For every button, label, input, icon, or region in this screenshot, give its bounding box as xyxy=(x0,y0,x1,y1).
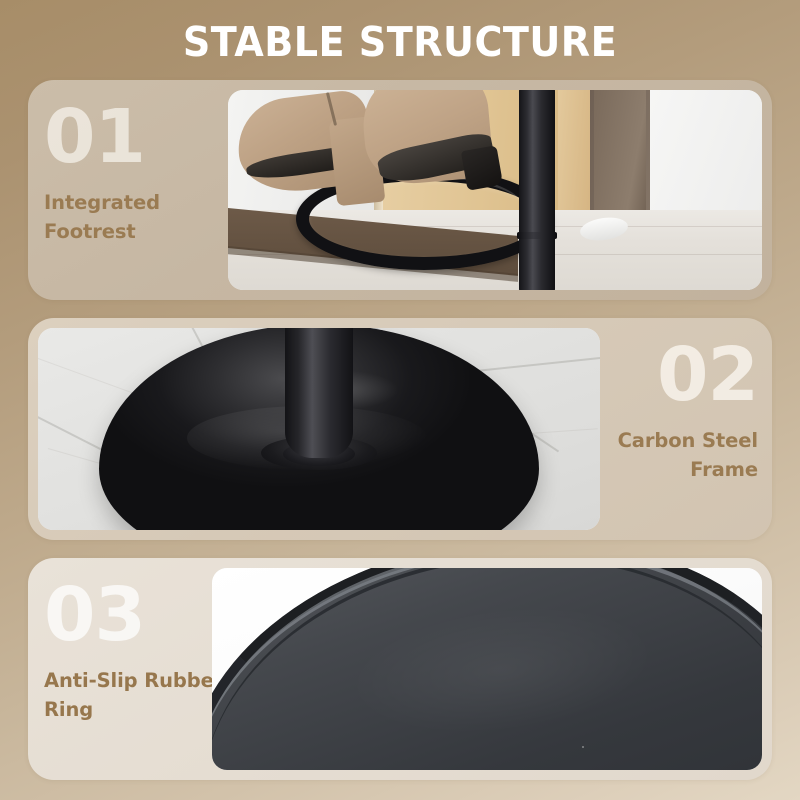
step-number-03: 03 xyxy=(44,576,234,654)
feature-card-01: 01 Integrated Footrest xyxy=(28,80,772,300)
feature-text-block-03: 03 Anti-Slip Rubber Ring xyxy=(44,558,234,780)
stool-column xyxy=(285,328,353,458)
stool-column-joint xyxy=(517,232,557,239)
integrated-footrest-photo xyxy=(228,90,762,290)
step-label-01: Integrated Footrest xyxy=(44,188,234,246)
carbon-steel-frame-photo xyxy=(38,328,600,530)
stool-column xyxy=(519,90,555,290)
feature-card-02: 02 Carbon Steel Frame xyxy=(28,318,772,540)
photo-inner-02 xyxy=(38,328,600,530)
feature-card-03: 03 Anti-Slip Rubber Ring xyxy=(28,558,772,780)
feature-text-block-01: 01 Integrated Footrest xyxy=(44,80,234,300)
step-label-03: Anti-Slip Rubber Ring xyxy=(44,666,234,724)
page-title: STABLE STRUCTURE xyxy=(28,18,772,66)
photo-inner-03 xyxy=(212,568,762,770)
step-number-01: 01 xyxy=(44,98,234,176)
anti-slip-rubber-ring-photo xyxy=(212,568,762,770)
surface-speck xyxy=(582,746,584,748)
boot-right-heel xyxy=(461,145,503,191)
photo-inner-01 xyxy=(228,90,762,290)
feature-text-block-02: 02 Carbon Steel Frame xyxy=(568,318,758,540)
wall-right xyxy=(632,90,762,218)
step-label-02: Carbon Steel Frame xyxy=(568,426,758,484)
product-feature-poster: STABLE STRUCTURE 01 Integrated Footrest xyxy=(0,0,800,800)
step-number-02: 02 xyxy=(568,336,758,414)
